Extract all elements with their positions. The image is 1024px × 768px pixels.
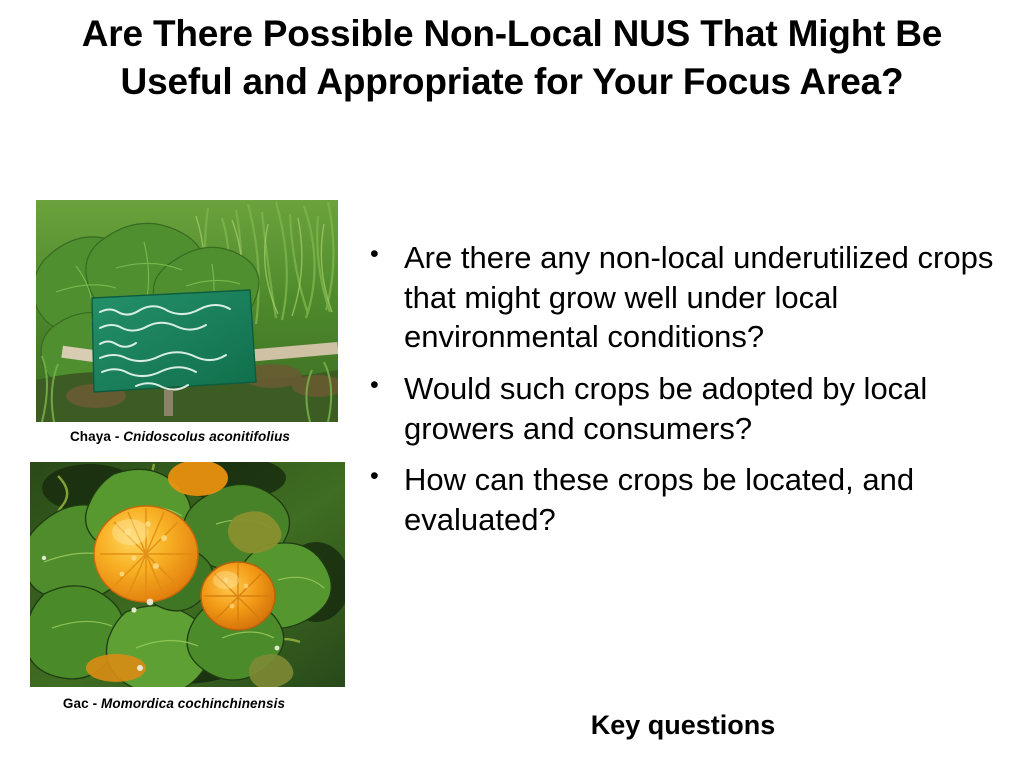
bullet-marker-icon: • [366, 460, 404, 492]
caption-gac-common: Gac - [63, 696, 101, 711]
gac-fruit-photo [30, 462, 345, 687]
bullet-marker-icon: • [366, 238, 404, 270]
caption-chaya-scientific: Cnidoscolus aconitifolius [123, 429, 290, 444]
bullet-marker-icon: • [366, 369, 404, 401]
key-questions-list: • Are there any non-local underutilized … [366, 238, 1006, 552]
caption-gac: Gac - Momordica cochinchinensis [4, 687, 344, 711]
figure-chaya: Chaya - Cnidoscolus aconitifolius [0, 200, 355, 444]
bullet-item: • Would such crops be adopted by local g… [366, 369, 1006, 448]
caption-chaya-common: Chaya - [70, 429, 123, 444]
chaya-plant-photo [36, 200, 338, 422]
bullet-text: Are there any non-local underutilized cr… [404, 238, 1006, 357]
caption-chaya: Chaya - Cnidoscolus aconitifolius [10, 422, 350, 444]
figure-column: Chaya - Cnidoscolus aconitifolius [0, 200, 355, 711]
bullet-item: • How can these crops be located, and ev… [366, 460, 1006, 539]
gac-fruit-large [94, 506, 198, 602]
figure-gac: Gac - Momordica cochinchinensis [0, 462, 355, 711]
caption-gac-scientific: Momordica cochinchinensis [101, 696, 285, 711]
page-title: Are There Possible Non-Local NUS That Mi… [40, 10, 984, 106]
slide-canvas: Are There Possible Non-Local NUS That Mi… [0, 0, 1024, 768]
key-questions-label: Key questions [403, 710, 963, 741]
bullet-text: How can these crops be located, and eval… [404, 460, 1006, 539]
gac-fruit-small [201, 562, 275, 630]
bullet-text: Would such crops be adopted by local gro… [404, 369, 1006, 448]
bullet-item: • Are there any non-local underutilized … [366, 238, 1006, 357]
